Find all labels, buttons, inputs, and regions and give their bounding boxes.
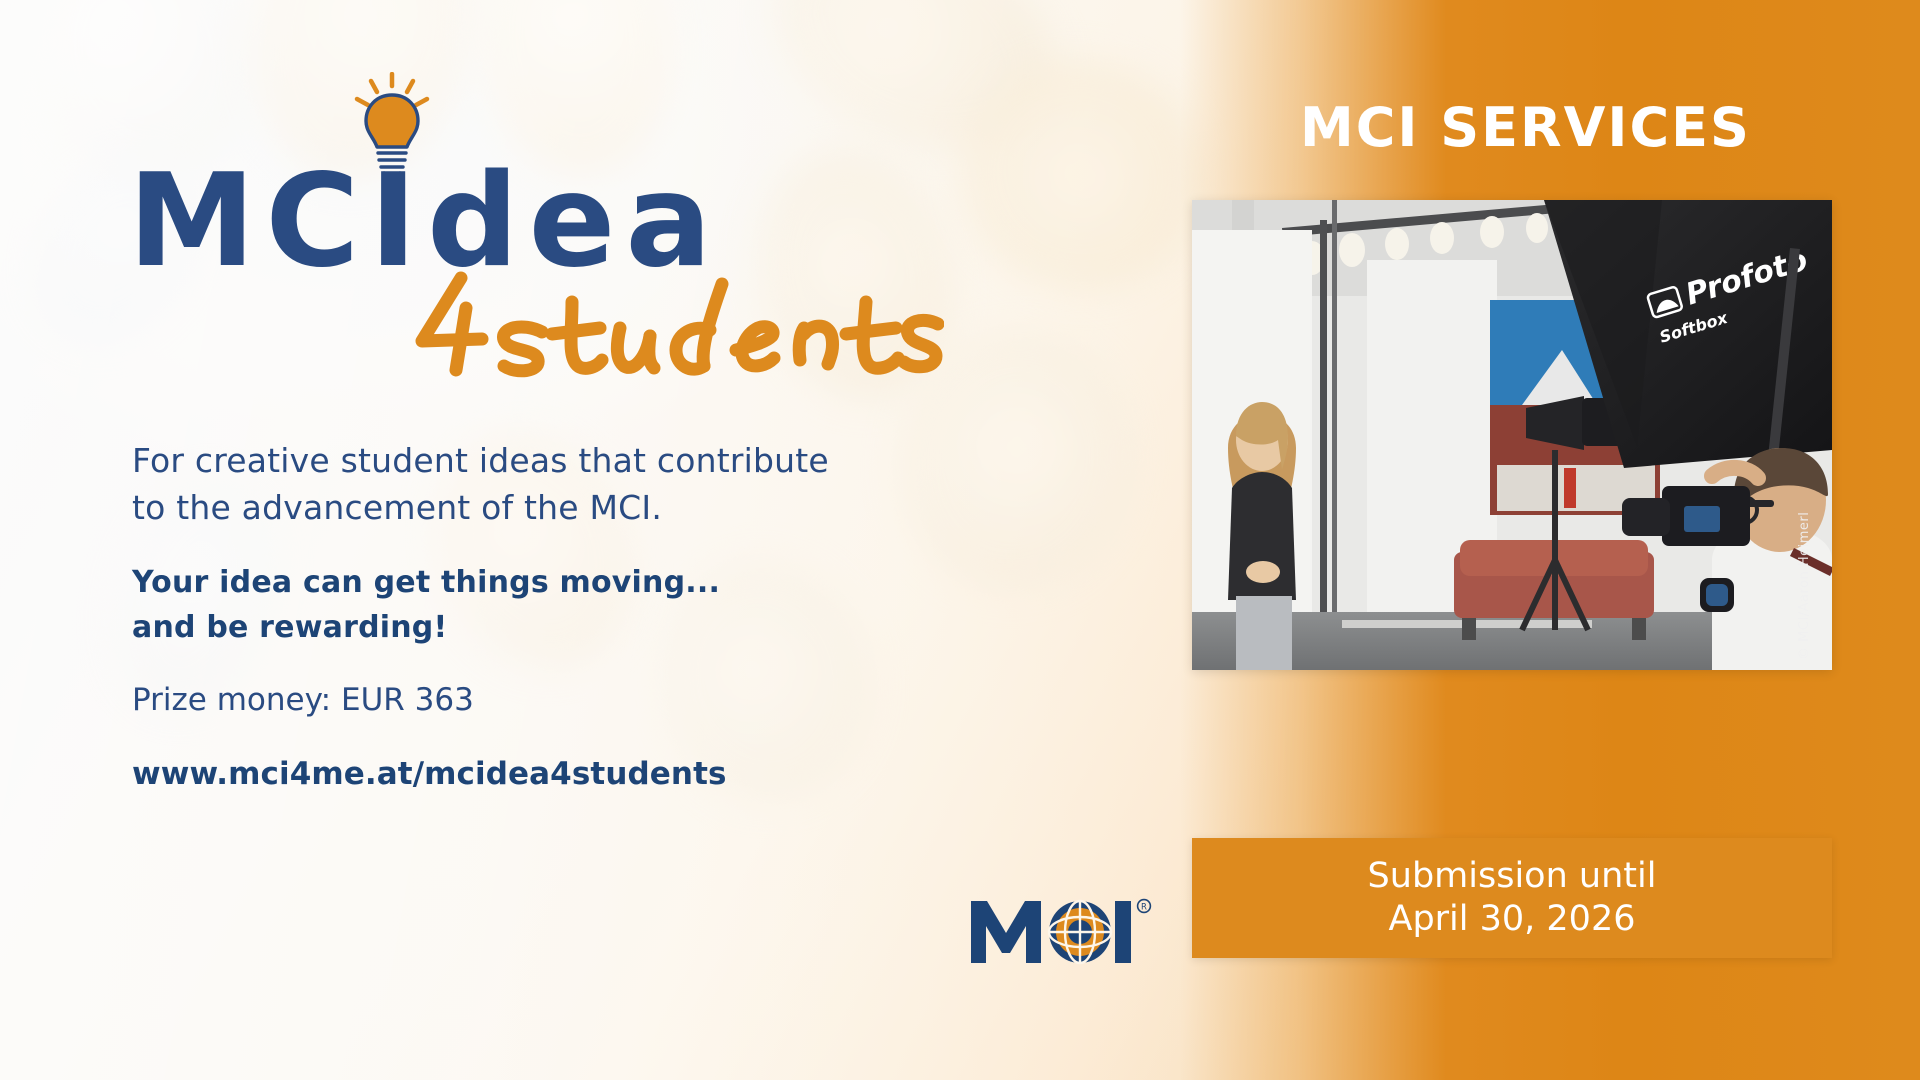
deadline-line-2: April 30, 2026 — [1389, 898, 1636, 941]
lead-paragraph: For creative student ideas that contribu… — [132, 438, 829, 532]
photo-credit: © MCI/Aaron Heimerl — [1797, 512, 1812, 660]
deadline-banner: Submission until April 30, 2026 — [1192, 838, 1832, 958]
deadline-line-1: Submission until — [1368, 855, 1657, 898]
lead-line-1: For creative student ideas that contribu… — [132, 438, 829, 485]
lead-line-2: to the advancement of the MCI. — [132, 485, 829, 532]
prize-money: Prize money: EUR 363 — [132, 682, 474, 718]
tagline: Your idea can get things moving... and b… — [132, 560, 720, 650]
mci-logo: R — [965, 885, 1157, 977]
studio-photo: Profoto Softbox — [1192, 200, 1832, 670]
svg-text:R: R — [1141, 903, 1147, 913]
poster-canvas: MCIdea — [0, 0, 1920, 1080]
tagline-line-1: Your idea can get things moving... — [132, 560, 720, 605]
services-title: MCI SERVICES — [1300, 96, 1751, 159]
tagline-line-2: and be rewarding! — [132, 605, 720, 650]
website-url[interactable]: www.mci4me.at/mcidea4students — [132, 756, 727, 792]
script-subtitle — [404, 262, 944, 382]
